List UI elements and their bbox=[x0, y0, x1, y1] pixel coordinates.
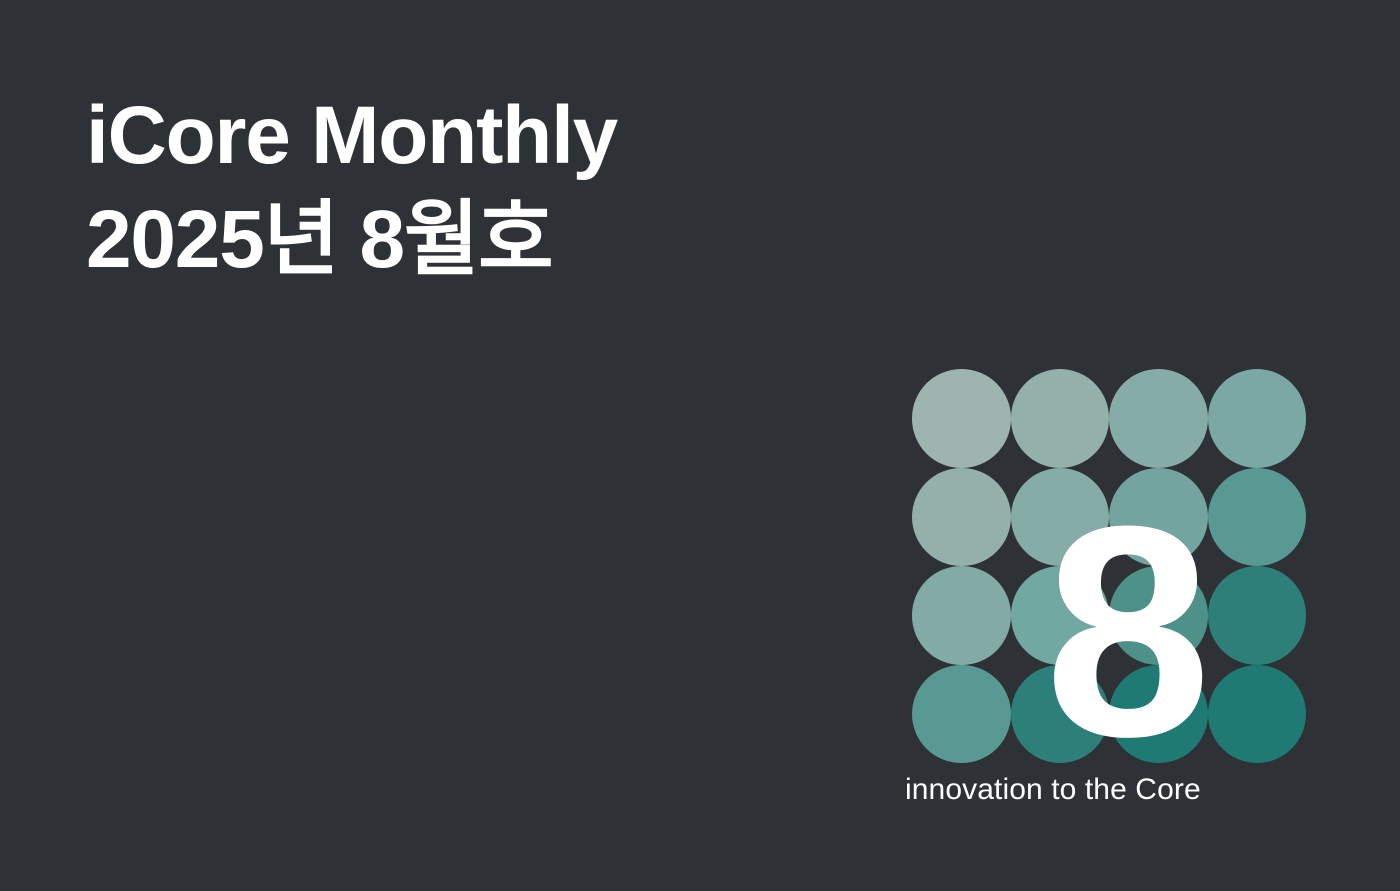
logo-dot-r2-c1 bbox=[912, 468, 1011, 567]
logo-dot-r2-c4 bbox=[1208, 468, 1307, 567]
logo-dot-r3-c4 bbox=[1208, 566, 1307, 665]
logo-dot-r4-c2 bbox=[1011, 665, 1110, 764]
title-line-issue-date: 2025년 8월호 bbox=[86, 188, 786, 292]
title-line-primary: iCore Monthly bbox=[86, 84, 786, 188]
logo-dot-r1-c3 bbox=[1109, 369, 1208, 468]
icore-logo-mark: 8 bbox=[912, 369, 1306, 763]
logo-tagline: innovation to the Core bbox=[905, 771, 1315, 809]
cover-slide: iCore Monthly 2025년 8월호 8 innovation to … bbox=[0, 0, 1400, 891]
logo-dot-r1-c4 bbox=[1208, 369, 1307, 468]
logo-dot-r3-c2 bbox=[1011, 566, 1110, 665]
page-title: iCore Monthly 2025년 8월호 bbox=[86, 84, 786, 292]
logo-dot-r1-c2 bbox=[1011, 369, 1110, 468]
logo-dot-r4-c4 bbox=[1208, 665, 1307, 764]
logo-dot-r2-c3 bbox=[1109, 468, 1208, 567]
logo-dot-r4-c1 bbox=[912, 665, 1011, 764]
logo-dot-r3-c3 bbox=[1109, 566, 1208, 665]
logo-dot-r2-c2 bbox=[1011, 468, 1110, 567]
logo-dot-r1-c1 bbox=[912, 369, 1011, 468]
logo-dot-r4-c3 bbox=[1109, 665, 1208, 764]
logo-dot-grid bbox=[912, 369, 1306, 763]
logo-dot-r3-c1 bbox=[912, 566, 1011, 665]
